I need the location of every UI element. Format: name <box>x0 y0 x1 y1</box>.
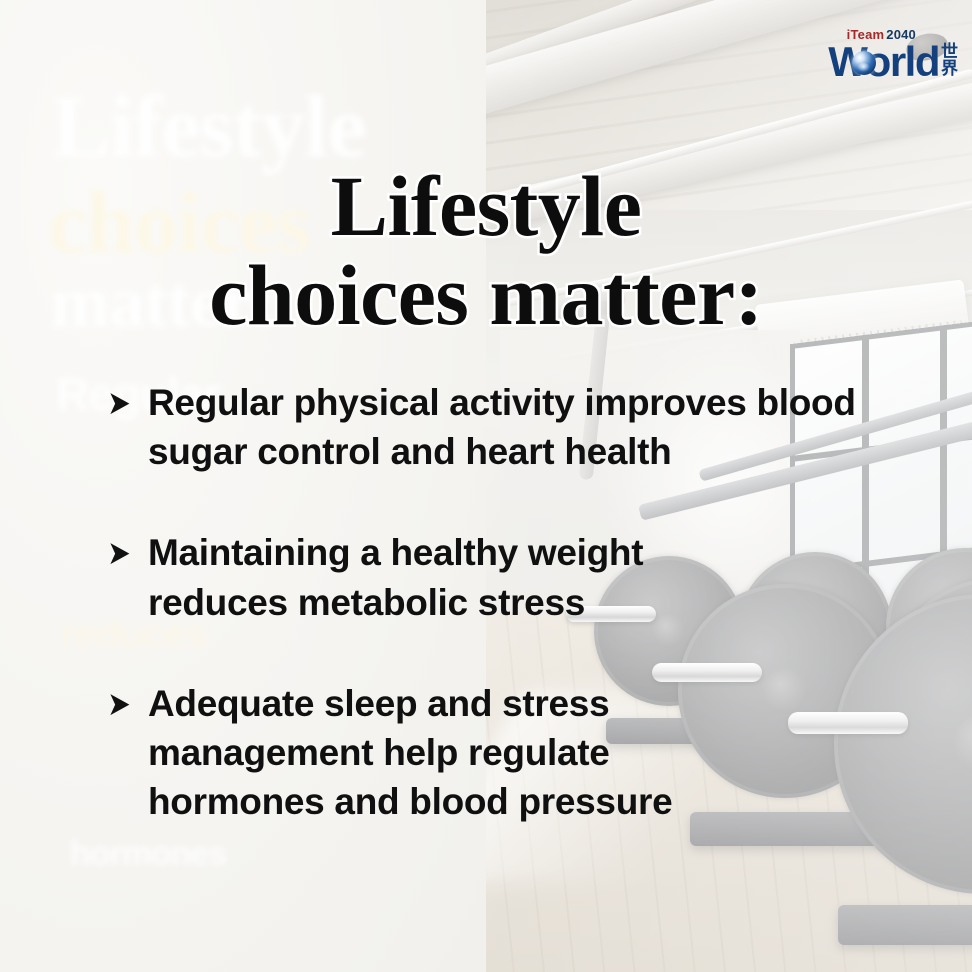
list-item: ➤ Maintaining a healthy weight reduces m… <box>104 528 894 626</box>
arrow-bullet-icon: ➤ <box>107 679 144 729</box>
page-title: Lifestyle choices matter: <box>0 162 972 341</box>
list-item-text: Adequate sleep and stress management hel… <box>148 679 693 827</box>
poster-canvas: Lifestyle choices matter: Regular reduce… <box>0 0 972 972</box>
headline-line-2: choices matter: <box>40 251 932 340</box>
logo-wordmark: World <box>828 42 939 82</box>
poster-content: Lifestyle choices matter: ➤ Regular phys… <box>0 0 972 972</box>
logo-cjk-characters: 世 界 <box>941 44 958 78</box>
brand-logo[interactable]: iTeam2040 World 世 界 <box>798 28 958 90</box>
logo-wordmark-text: World <box>828 38 939 85</box>
headline-line-1: Lifestyle <box>40 162 932 251</box>
list-item: ➤ Regular physical activity improves blo… <box>104 378 894 476</box>
list-item: ➤ Adequate sleep and stress management h… <box>104 679 894 827</box>
arrow-bullet-icon: ➤ <box>107 378 144 428</box>
list-item-text: Regular physical activity improves blood… <box>148 378 868 476</box>
bullet-list: ➤ Regular physical activity improves blo… <box>104 378 894 878</box>
list-item-text: Maintaining a healthy weight reduces met… <box>148 528 718 626</box>
logo-main-row: World 世 界 <box>798 42 958 82</box>
logo-cjk-bottom: 界 <box>941 61 958 78</box>
arrow-bullet-icon: ➤ <box>107 528 144 578</box>
